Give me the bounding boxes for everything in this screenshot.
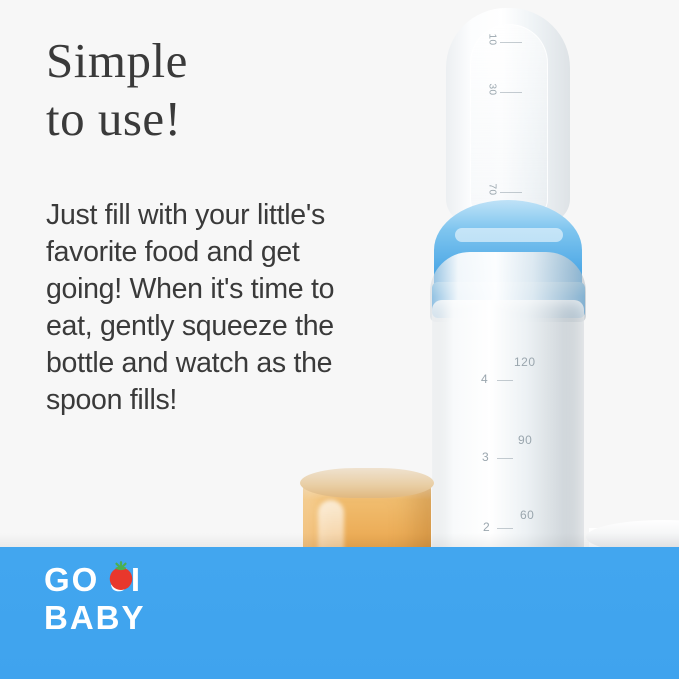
body-copy: Just fill with your little's favorite fo… — [46, 197, 376, 419]
bottle-scale-ml-90: 90 — [518, 433, 532, 447]
jar-rim — [300, 468, 434, 498]
spoon-slit — [455, 228, 563, 242]
headline-line-2: to use! — [46, 90, 376, 148]
bottle-scale-oz-4: 4 — [481, 372, 488, 386]
silicone-spoon-head — [434, 200, 582, 300]
spoon-scale-30: 30 — [487, 83, 498, 95]
brand-logo: GO JI BABY — [44, 563, 274, 647]
bottle-scale-oz-3: 3 — [482, 450, 489, 464]
brand-name-line-2: BABY — [44, 601, 146, 635]
headline-line-1: Simple — [46, 33, 188, 88]
spoon-scale-70: 70 — [487, 183, 498, 195]
bottle-spoon-inner — [470, 24, 548, 216]
product-infographic: 10 30 70 120 4 90 3 60 2 30 1 OZ ML — [0, 0, 679, 679]
bottle-scale-oz-2: 2 — [483, 520, 490, 534]
bottle-scale-ml-60: 60 — [520, 508, 534, 522]
spoon-scale-10: 10 — [487, 33, 498, 45]
bottle-shoulder — [430, 252, 586, 322]
bottle-collar — [432, 282, 585, 318]
band-shadow — [0, 533, 679, 547]
tomato-icon — [106, 561, 136, 592]
headline: Simple to use! — [46, 32, 376, 148]
bottle-spoon-tip — [446, 8, 570, 223]
bottle-scale-ml-120: 120 — [514, 355, 536, 369]
